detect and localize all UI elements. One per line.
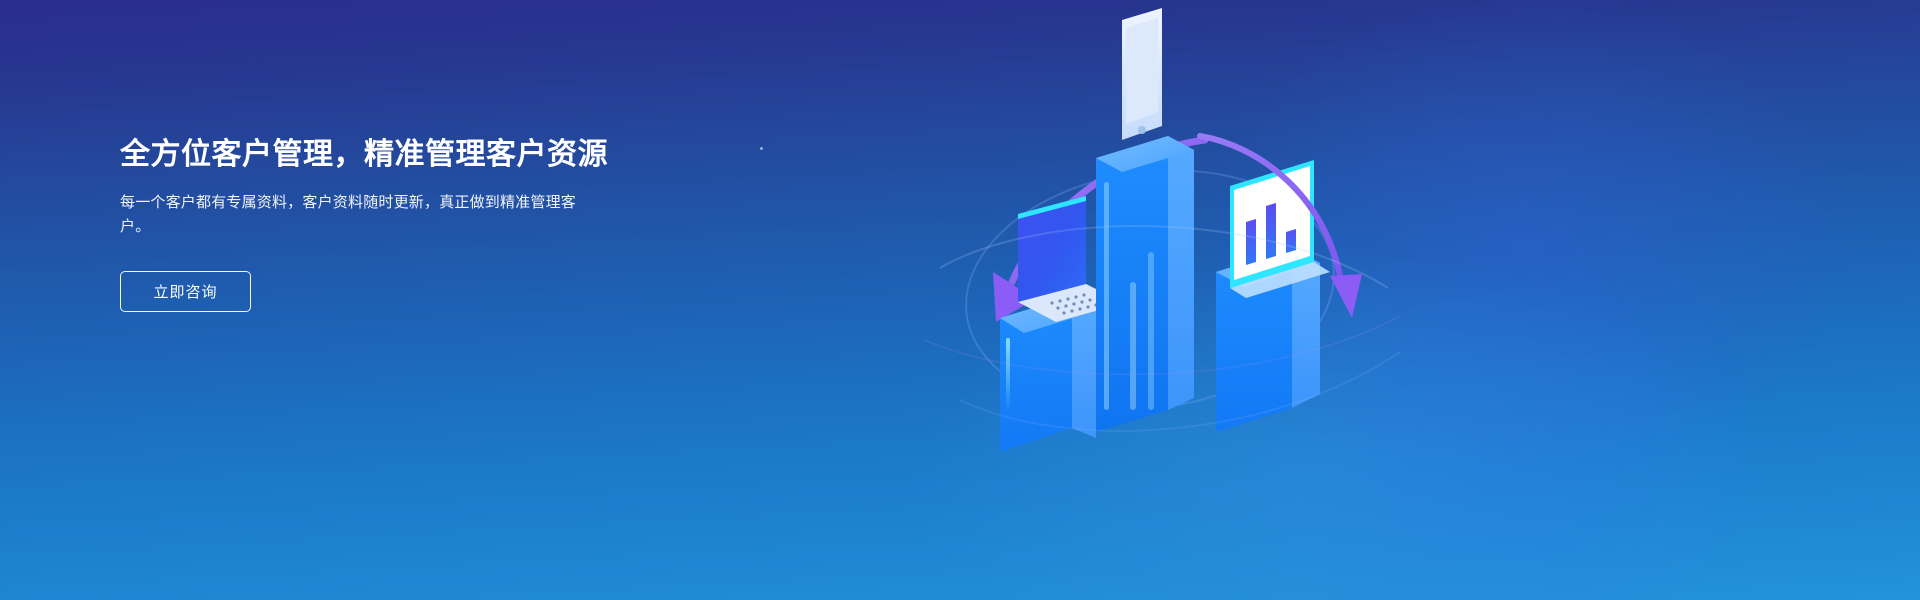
page-title: 全方位客户管理，精准管理客户资源 <box>120 136 680 174</box>
consult-now-button[interactable]: 立即咨询 <box>120 271 251 312</box>
hero-banner: 全方位客户管理，精准管理客户资源 每一个客户都有专属资料，客户资料随时更新，真正… <box>0 0 1920 600</box>
tablet-icon <box>1122 8 1162 140</box>
hero-subtitle: 每一个客户都有专属资料，客户资料随时更新，真正做到精准管理客户。 <box>120 191 602 240</box>
hero-illustration <box>900 0 1420 600</box>
sparkle-dot-icon <box>760 147 763 150</box>
hero-copy-block: 全方位客户管理，精准管理客户资源 每一个客户都有专属资料，客户资料随时更新，真正… <box>120 136 680 312</box>
pedestal-center <box>1096 136 1194 432</box>
